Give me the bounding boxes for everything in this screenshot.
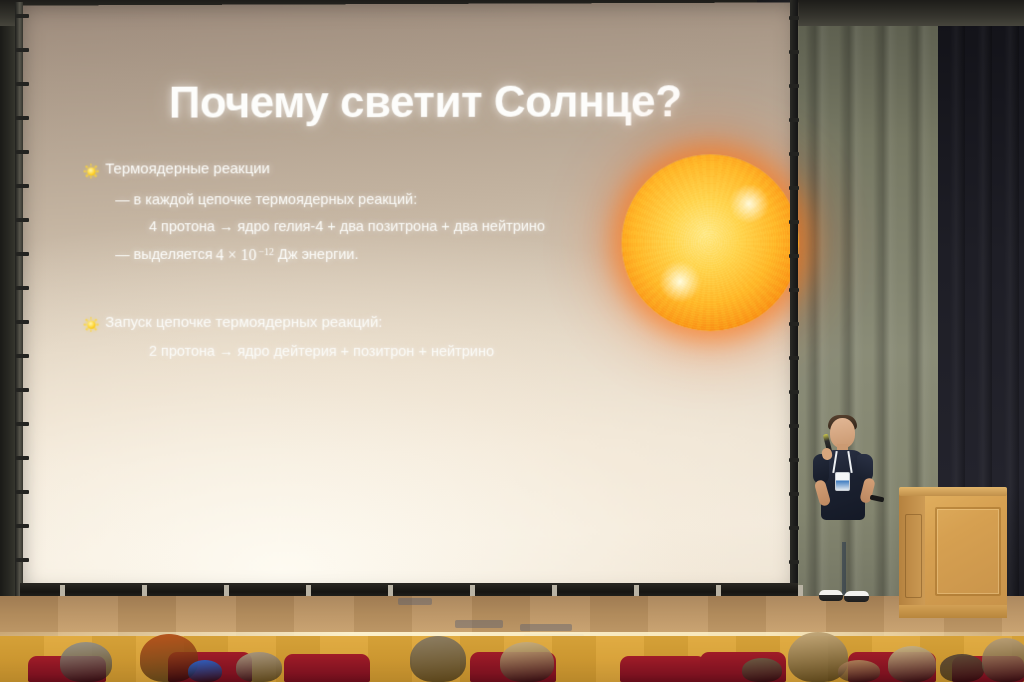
- bullet-item-4: — выделяется 4 × 10 −12 Дж энергии.: [115, 247, 358, 265]
- slide-content: Почему светит Солнце? Термоядерные реакц…: [40, 6, 817, 601]
- screen-clip: [789, 424, 799, 428]
- audience-seat: [284, 654, 370, 682]
- screen-clip: [16, 82, 29, 86]
- podium-front-panel: [935, 507, 1001, 596]
- screen-clip: [16, 422, 29, 426]
- podium-top: [899, 487, 1007, 496]
- audience-person: [500, 642, 554, 682]
- bullet-label-3: 4 протона → ядро гелия-4 + два позитрона…: [149, 219, 545, 235]
- screen-clip: [789, 526, 799, 530]
- screen-clip: [16, 14, 29, 18]
- screen-clip: [789, 186, 799, 190]
- screen-clip: [16, 184, 29, 188]
- audience-person: [236, 652, 282, 682]
- audience-person: [60, 642, 112, 682]
- screen-clip: [16, 116, 29, 120]
- screen-clip: [16, 286, 29, 290]
- audience-person: [410, 636, 466, 682]
- presenter-badge: [835, 472, 850, 491]
- audience-seat: [620, 656, 706, 682]
- screen-clip: [16, 354, 29, 358]
- screen-right-rail: [790, 0, 798, 600]
- audience-row: [0, 626, 1024, 682]
- screen-left-rail: [15, 2, 23, 602]
- screen-clip: [789, 322, 799, 326]
- podium-side-panel: [905, 514, 922, 598]
- bullet-label-1: Термоядерные реакции: [105, 160, 270, 177]
- screen-clip: [16, 490, 29, 494]
- presenter-shoe-right: [844, 591, 869, 602]
- podium-base: [899, 605, 1007, 618]
- screen-clip: [789, 560, 799, 564]
- lecture-hall-photo: Почему светит Солнце? Термоядерные реакц…: [0, 0, 1024, 682]
- audience-person: [940, 654, 984, 682]
- bullet-item-2: — в каждой цепочке термоядерных реакций:: [115, 192, 417, 208]
- sun-icon: [84, 317, 99, 332]
- bullet-item-3: 4 протона → ядро гелия-4 + два позитрона…: [149, 219, 545, 235]
- screen-clip: [16, 558, 29, 562]
- screen-clip: [789, 50, 799, 54]
- audience-person: [888, 646, 936, 682]
- screen-clip: [789, 288, 799, 292]
- sun-photograph: [622, 154, 799, 331]
- presenter: [808, 418, 880, 618]
- floor-marking-1: [398, 598, 432, 605]
- bullet-label-6: 2 протона → ядро дейтерия + позитрон + н…: [149, 344, 494, 360]
- bullet-label-2: — в каждой цепочке термоядерных реакций:: [115, 192, 417, 208]
- screen-clip: [16, 524, 29, 528]
- formula-base: 4 × 10: [216, 247, 257, 265]
- audience-person: [982, 638, 1024, 682]
- screen-clip: [16, 48, 29, 52]
- screen-clip: [789, 220, 799, 224]
- screen-clip: [789, 152, 799, 156]
- formula-exponent: −12: [259, 247, 275, 258]
- screen-clip: [16, 388, 29, 392]
- screen-clip: [789, 390, 799, 394]
- podium-side: [899, 494, 927, 606]
- bullet-item-6: 2 протона → ядро дейтерия + позитрон + н…: [149, 344, 494, 360]
- audience-person: [838, 660, 880, 682]
- presenter-leg-gap: [842, 542, 846, 595]
- slide-title: Почему светит Солнце?: [169, 77, 790, 129]
- screen-clip: [789, 16, 799, 20]
- bullet-label-5: Запуск цепочке термоядерных реакций:: [105, 314, 382, 331]
- sun-icon: [84, 164, 99, 179]
- bullet-item-1: Термоядерные реакции: [84, 160, 271, 178]
- screen-clip: [16, 150, 29, 154]
- screen-clip: [789, 84, 799, 88]
- screen-clip: [16, 218, 29, 222]
- formula-prefix: — выделяется: [115, 247, 213, 263]
- screen-clip: [789, 118, 799, 122]
- audience-person: [188, 660, 222, 682]
- screen-clip: [16, 252, 29, 256]
- screen-clip: [16, 456, 29, 460]
- audience-person: [742, 658, 782, 682]
- screen-clip: [789, 492, 799, 496]
- presenter-shoe-left: [819, 590, 843, 601]
- screen-clip: [789, 254, 799, 258]
- bullet-item-5: Запуск цепочке термоядерных реакций:: [84, 314, 383, 332]
- podium: [899, 487, 1007, 619]
- screen-clip: [789, 356, 799, 360]
- projection-screen: Почему светит Солнце? Термоядерные реакц…: [21, 2, 798, 597]
- screen-clip: [789, 458, 799, 462]
- formula-suffix: Дж энергии.: [278, 247, 358, 263]
- screen-clip: [16, 320, 29, 324]
